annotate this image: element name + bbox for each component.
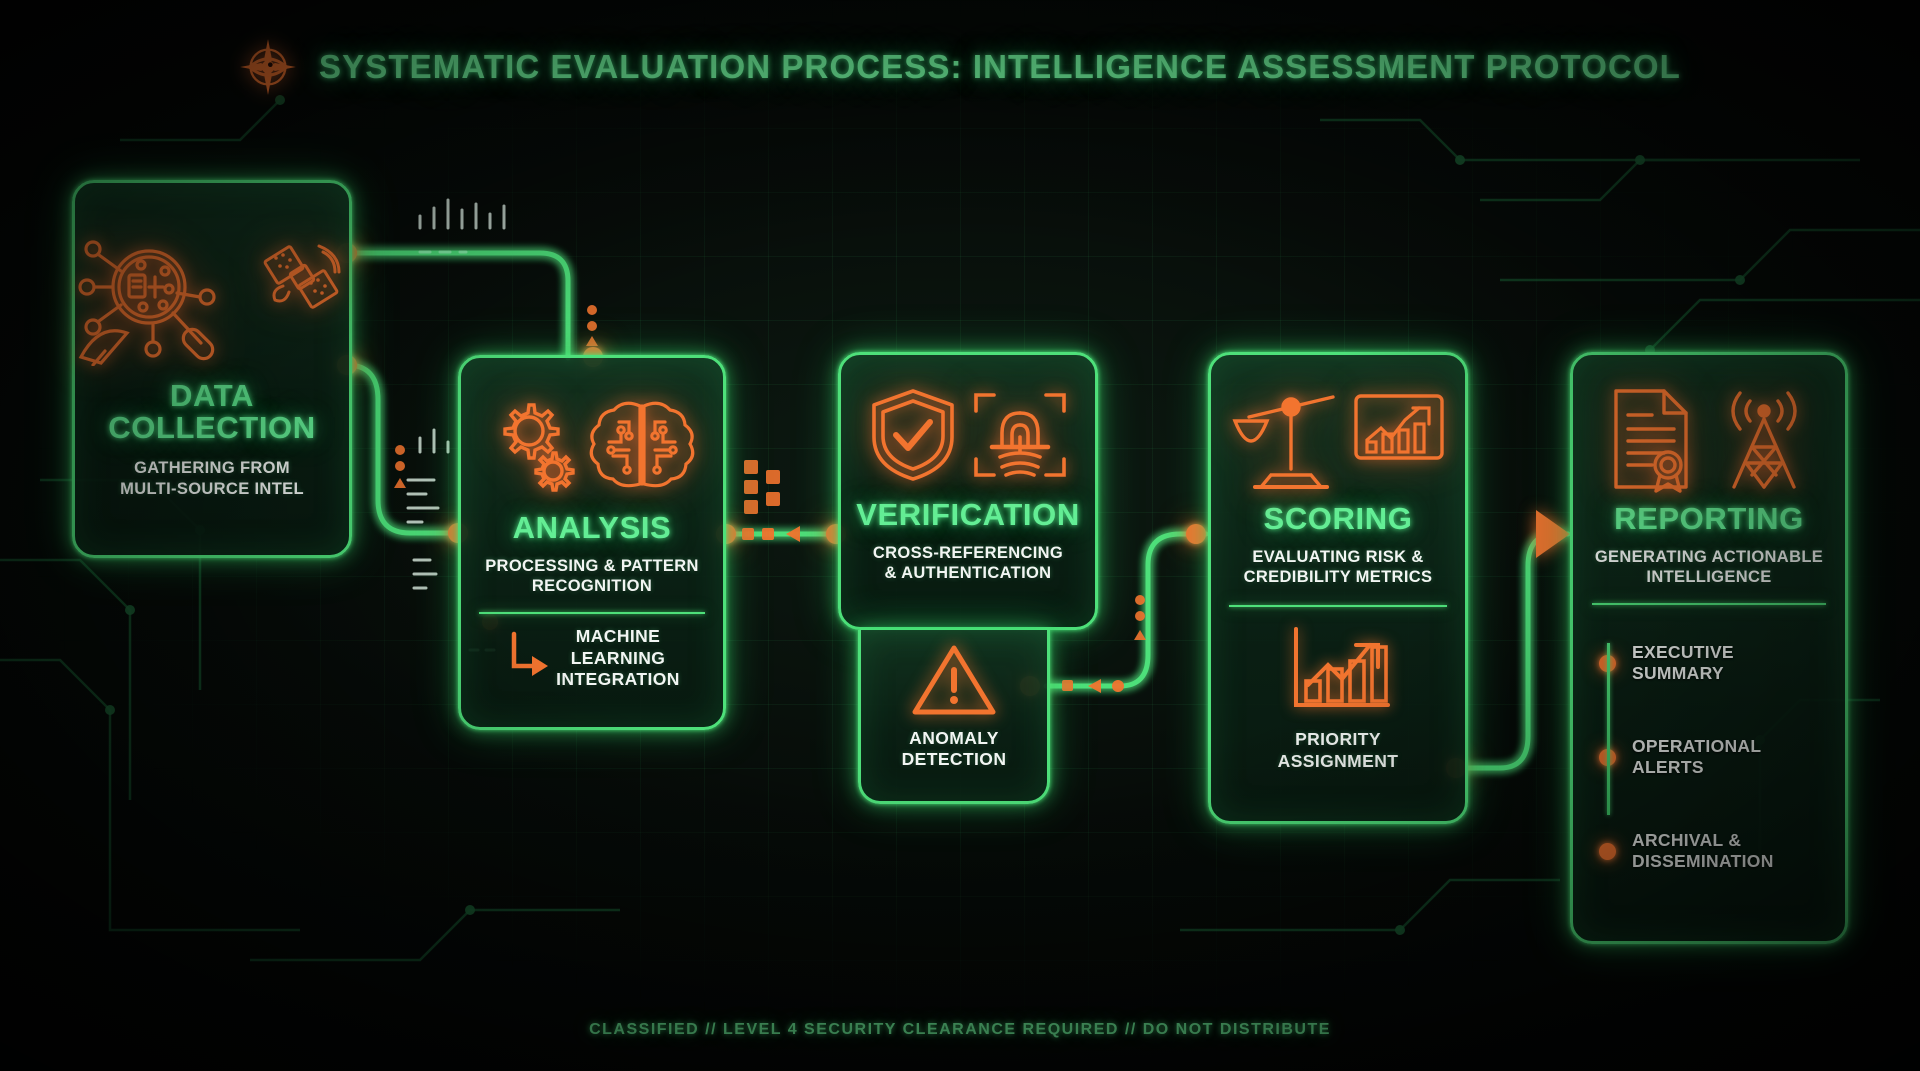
list-item-label: EXECUTIVE SUMMARY [1632,642,1734,684]
warning-triangle-icon [911,642,997,718]
subtitle-line-2: INTELLIGENCE [1595,567,1823,587]
stage-card-data-collection[interactable]: DATA COLLECTION GATHERING FROM MULTI-SOU… [72,180,352,558]
scoring-sub-item-priority-assignment[interactable]: PRIORITY ASSIGNMENT [1278,623,1399,772]
magnifier-network-icon [77,231,267,366]
label-line-1: ARCHIVAL & [1632,830,1774,851]
verification-sub-item-anomaly-detection[interactable]: ANOMALY DETECTION [858,630,1050,804]
stage-title-reporting: REPORTING [1614,503,1804,535]
list-item[interactable]: ARCHIVAL & DISSEMINATION [1573,815,1845,887]
circuit-brain-icon [589,394,695,494]
bullet-spine [1607,643,1610,815]
radio-tower-icon [1716,385,1812,493]
data-collection-icon-group [77,231,347,366]
verification-icon-group [866,385,1070,485]
certificate-document-icon [1606,385,1700,493]
sub-label-line-2: LEARNING [556,648,680,669]
subtitle-line-1: GENERATING ACTIONABLE [1595,547,1823,567]
reporting-icon-group [1606,385,1812,493]
gears-icon [489,395,585,493]
eye-compass-icon [239,38,297,96]
stage-title-analysis: ANALYSIS [513,512,672,544]
balance-scale-icon [1229,383,1349,493]
stage-title-data-collection: DATA COLLECTION [108,380,316,444]
footer-classification-notice: CLASSIFIED // LEVEL 4 SECURITY CLEARANCE… [0,1021,1920,1039]
elbow-arrow-icon [504,628,550,690]
anomaly-detection-label: ANOMALY DETECTION [902,728,1007,771]
sub-label-line-2: ASSIGNMENT [1278,751,1399,772]
subtitle-line-1: PROCESSING & PATTERN [485,556,699,576]
label-line-1: EXECUTIVE [1632,642,1734,663]
page-title: SYSTEMATIC EVALUATION PROCESS: INTELLIGE… [319,48,1681,86]
scoring-divider [1229,605,1447,607]
shield-check-icon [866,385,960,485]
priority-assignment-label: PRIORITY ASSIGNMENT [1278,729,1399,772]
label-line-2: ALERTS [1632,757,1761,778]
stage-subtitle-analysis: PROCESSING & PATTERN RECOGNITION [485,556,699,596]
stage-subtitle-data-collection: GATHERING FROM MULTI-SOURCE INTEL [120,458,304,498]
satellite-icon [261,242,347,334]
title-line-1: DATA [108,380,316,412]
title-line-2: COLLECTION [108,412,316,444]
stage-card-reporting[interactable]: REPORTING GENERATING ACTIONABLE INTELLIG… [1570,352,1848,944]
list-item[interactable]: EXECUTIVE SUMMARY [1573,627,1845,699]
subtitle-line-2: MULTI-SOURCE INTEL [120,479,304,499]
subtitle-line-2: & AUTHENTICATION [873,563,1063,583]
analysis-icon-group [489,394,695,494]
sub-label-line-1: ANOMALY [902,728,1007,749]
stage-subtitle-scoring: EVALUATING RISK & CREDIBILITY METRICS [1244,547,1433,587]
subtitle-line-1: GATHERING FROM [120,458,304,478]
connector-node-scoring-in [1186,524,1206,544]
label-line-1: OPERATIONAL [1632,736,1761,757]
bar-chart-arrow-icon [1282,623,1394,719]
list-item[interactable]: OPERATIONAL ALERTS [1573,721,1845,793]
label-line-2: SUMMARY [1632,663,1734,684]
list-item-label: OPERATIONAL ALERTS [1632,736,1761,778]
stage-title-verification: VERIFICATION [856,499,1080,531]
stage-card-analysis[interactable]: ANALYSIS PROCESSING & PATTERN RECOGNITIO… [458,355,726,730]
stage-card-scoring[interactable]: SCORING EVALUATING RISK & CREDIBILITY ME… [1208,352,1468,824]
stage-card-verification[interactable]: VERIFICATION CROSS-REFERENCING & AUTHENT… [838,352,1098,630]
bullet-dot-icon [1599,843,1616,860]
reporting-output-list: EXECUTIVE SUMMARY OPERATIONAL ALERTS ARC… [1573,605,1845,887]
subtitle-line-2: RECOGNITION [485,576,699,596]
stage-subtitle-reporting: GENERATING ACTIONABLE INTELLIGENCE [1595,547,1823,587]
list-item-label: ARCHIVAL & DISSEMINATION [1632,830,1774,872]
analysis-sub-item-machine-learning[interactable]: MACHINE LEARNING INTEGRATION [504,614,680,690]
analysis-sub-item-label: MACHINE LEARNING INTEGRATION [556,626,680,690]
sub-label-line-1: PRIORITY [1278,729,1399,750]
trend-chart-icon [1351,388,1447,474]
stage-title-scoring: SCORING [1264,503,1413,535]
subtitle-line-2: CREDIBILITY METRICS [1244,567,1433,587]
label-line-2: DISSEMINATION [1632,851,1774,872]
sub-label-line-1: MACHINE [556,626,680,647]
sub-label-line-2: DETECTION [902,749,1007,770]
page-header: SYSTEMATIC EVALUATION PROCESS: INTELLIGE… [0,38,1920,96]
sub-label-line-3: INTEGRATION [556,669,680,690]
stage-subtitle-verification: CROSS-REFERENCING & AUTHENTICATION [873,543,1063,583]
fingerprint-scan-icon [970,385,1070,485]
scoring-icon-group [1229,383,1447,493]
subtitle-line-1: CROSS-REFERENCING [873,543,1063,563]
subtitle-line-1: EVALUATING RISK & [1244,547,1433,567]
